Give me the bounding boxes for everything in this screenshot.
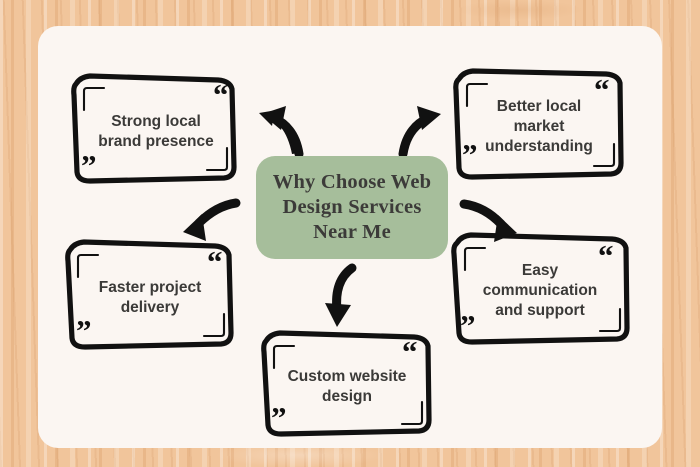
quote-text-faster-project-delivery: Faster project delivery xyxy=(78,258,222,338)
infographic-canvas: “ ” “ ” “ ” “ ” xyxy=(0,0,700,467)
arrow-to-better-local-market-understanding xyxy=(403,106,441,154)
center-title-line-2: Design Services xyxy=(282,196,421,218)
center-title-line-1: Why Choose Web xyxy=(273,171,431,193)
arrow-to-custom-website-design xyxy=(325,268,352,327)
quote-text-custom-website-design: Custom website design xyxy=(272,350,422,424)
quote-text-strong-local-brand-presence: Strong local brand presence xyxy=(84,92,228,172)
arrow-to-faster-project-delivery xyxy=(183,203,236,241)
center-title-line-3: Near Me xyxy=(313,221,391,243)
center-title-text: Why Choose Web Design Services Near Me xyxy=(273,170,431,245)
quote-text-better-local-market-understanding: Better local market understanding xyxy=(466,84,612,170)
quote-text-easy-communication-and-support: Easy communication and support xyxy=(464,248,616,334)
center-title-badge: Why Choose Web Design Services Near Me xyxy=(256,156,448,259)
arrow-to-strong-local-brand-presence xyxy=(259,106,300,154)
